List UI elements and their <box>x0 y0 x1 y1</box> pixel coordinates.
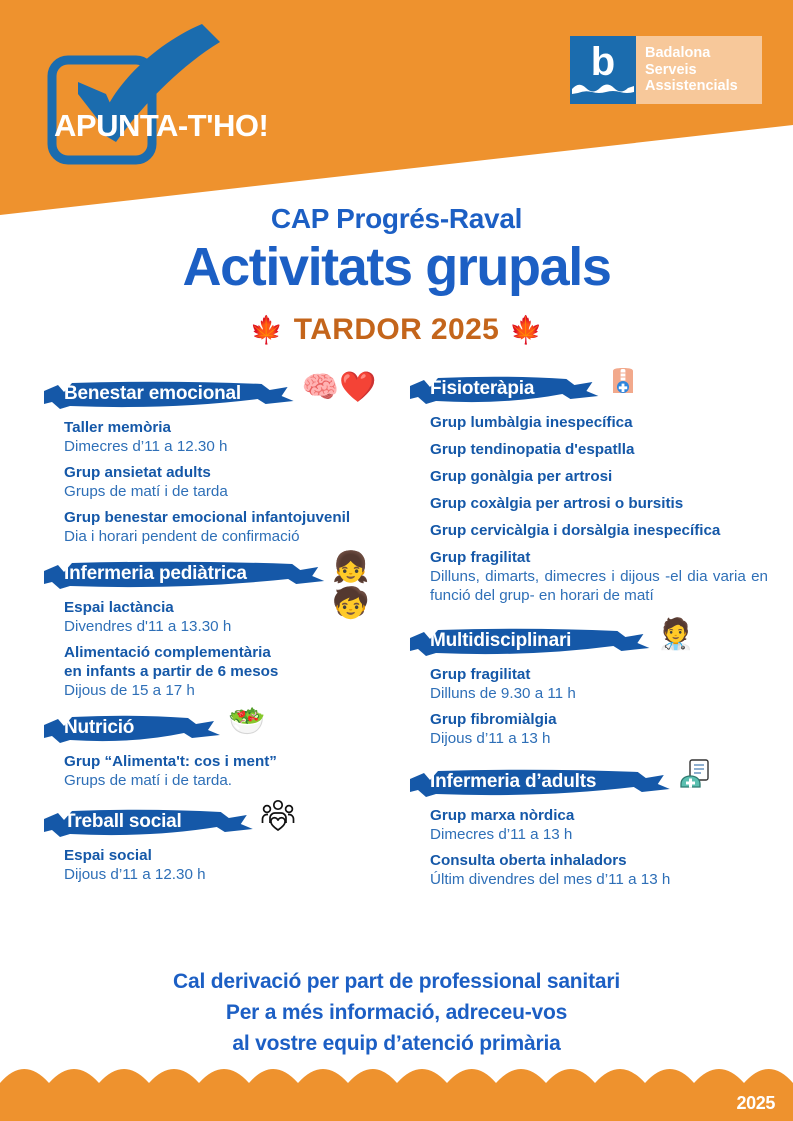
season-label: TARDOR 2025 <box>294 313 500 347</box>
section-title: Infermeria pediàtrica <box>64 563 247 585</box>
bsa-mark-icon: b <box>570 36 636 104</box>
activity-schedule: Grups de matí i de tarda <box>64 482 392 501</box>
activity-schedule: Grups de matí i de tarda. <box>64 771 392 790</box>
poster: APUNTA-T'HO! b Badalona Serveis Assisten… <box>0 0 793 1121</box>
left-column: Benestar emocional🧠❤️Taller memòriaDimec… <box>42 380 392 902</box>
children-icon: 👧🧒 <box>332 550 392 622</box>
activity-item: Grup fragilitatDilluns de 9.30 a 11 h <box>430 665 768 703</box>
section-header: Nutrició🥗 <box>42 714 392 744</box>
maple-leaf-icon-right: 🍁 <box>509 317 543 344</box>
section-header: Infermeria pediàtrica👧🧒 <box>42 560 392 590</box>
activity-name: Grup lumbàlgia inespecífica <box>430 413 768 432</box>
activity-name: Grup coxàlgia per artrosi o bursitis <box>430 494 768 513</box>
wave-icon <box>572 80 634 96</box>
activity-schedule: Últim divendres del mes d’11 a 13 h <box>430 870 768 889</box>
section-title: Infermeria d’adults <box>430 771 596 793</box>
activity-name: Grup marxa nòrdica <box>430 806 768 825</box>
spine-back-icon <box>606 365 640 408</box>
section-title: Benestar emocional <box>64 383 241 405</box>
section-title: Nutrició <box>64 717 134 739</box>
footer-year: 2025 <box>737 1093 775 1114</box>
campaign-label: APUNTA-T'HO! <box>54 108 268 144</box>
section-title: Treball social <box>64 811 182 833</box>
section-body: Grup lumbàlgia inespecíficaGrup tendinop… <box>408 413 768 605</box>
section-header: Benestar emocional🧠❤️ <box>42 380 392 410</box>
bottom-wave-decoration <box>0 1061 793 1121</box>
footer-line-2: Per a més informació, adreceu-vos <box>0 997 793 1028</box>
salad-icon: 🥗 <box>228 704 265 740</box>
medical-team-icon: 🧑‍⚕️ <box>657 617 694 653</box>
footer-line-1: Cal derivació per part de professional s… <box>0 966 793 997</box>
activity-item: Grup fragilitatDilluns, dimarts, dimecre… <box>430 548 768 605</box>
activity-schedule: Dimecres d’11 a 12.30 h <box>64 437 392 456</box>
checkbox-check-icon <box>44 22 294 172</box>
activity-name: Grup ansietat adults <box>64 463 392 482</box>
activity-name: Grup tendinopatia d'espatlla <box>430 440 768 459</box>
activity-schedule: Dimecres d’11 a 13 h <box>430 825 768 844</box>
activity-name: Grup fibromiàlgia <box>430 710 768 729</box>
maple-leaf-icon-left: 🍁 <box>250 317 284 344</box>
activity-item: Espai socialDijous d’11 a 12.30 h <box>64 846 392 884</box>
nurse-clipboard-icon <box>678 758 712 792</box>
activity-item: Grup marxa nòrdicaDimecres d’11 a 13 h <box>430 806 768 844</box>
page-title: Activitats grupals <box>0 237 793 297</box>
activity-schedule: Dijous d’11 a 12.30 h <box>64 865 392 884</box>
footer-message: Cal derivació per part de professional s… <box>0 966 793 1059</box>
activity-name: Grup “Alimenta't: cos i ment” <box>64 752 392 771</box>
section-body: Grup “Alimenta't: cos i ment”Grups de ma… <box>42 752 392 790</box>
bsa-letter: b <box>570 42 636 82</box>
campaign-logo <box>44 22 294 167</box>
footer-line-3: al vostre equip d’atenció primària <box>0 1028 793 1059</box>
nurse-clipboard-icon <box>678 758 712 801</box>
activity-schedule: Dijous de 15 a 17 h <box>64 681 392 700</box>
activity-item: Grup “Alimenta't: cos i ment”Grups de ma… <box>64 752 392 790</box>
activity-name: Espai social <box>64 846 392 865</box>
bsa-line-1: Badalona <box>645 45 762 62</box>
people-heart-icon <box>261 798 295 841</box>
season-title: 🍁 TARDOR 2025 🍁 <box>0 313 793 347</box>
brain-icon: 🧠❤️ <box>302 370 377 406</box>
activity-item: Taller memòriaDimecres d’11 a 12.30 h <box>64 418 392 456</box>
activity-name: Grup cervicàlgia i dorsàlgia inespecífic… <box>430 521 768 540</box>
center-name: CAP Progrés-Raval <box>0 203 793 235</box>
section-header: Treball social <box>42 808 392 838</box>
section-header: Multidisciplinari🧑‍⚕️ <box>408 627 768 657</box>
activity-name: Taller memòria <box>64 418 392 437</box>
activity-schedule: Dilluns, dimarts, dimecres i dijous -el … <box>430 567 768 605</box>
activity-section-1: Benestar emocional🧠❤️Taller memòriaDimec… <box>42 380 392 546</box>
bsa-wordmark: Badalona Serveis Assistencials <box>636 36 762 104</box>
bsa-line-2: Serveis <box>645 62 762 79</box>
organization-logo: b Badalona Serveis Assistencials <box>570 36 762 104</box>
activity-item: Grup benestar emocional infantojuvenilDi… <box>64 508 392 546</box>
activity-name: Grup gonàlgia per artrosi <box>430 467 768 486</box>
section-header: Infermeria d’adults <box>408 768 768 798</box>
people-heart-icon <box>261 798 295 832</box>
section-title: Multidisciplinari <box>430 630 571 652</box>
activity-schedule: Dijous d’11 a 13 h <box>430 729 768 748</box>
activity-item: Grup ansietat adultsGrups de matí i de t… <box>64 463 392 501</box>
section-header: Fisioteràpia <box>408 375 768 405</box>
activity-name: Grup fragilitat <box>430 665 768 684</box>
activity-name: Grup benestar emocional infantojuvenil <box>64 508 392 527</box>
activity-section-r1: FisioteràpiaGrup lumbàlgia inespecíficaG… <box>408 375 768 605</box>
right-column: FisioteràpiaGrup lumbàlgia inespecíficaG… <box>408 375 768 909</box>
bsa-line-3: Assistencials <box>645 78 762 95</box>
section-body: Grup fragilitatDilluns de 9.30 a 11 hGru… <box>408 665 768 748</box>
activity-item: Grup fibromiàlgiaDijous d’11 a 13 h <box>430 710 768 748</box>
activity-section-2: Infermeria pediàtrica👧🧒Espai lactànciaDi… <box>42 560 392 700</box>
spine-back-icon <box>606 365 640 399</box>
activity-name: Consulta oberta inhaladors <box>430 851 768 870</box>
activity-section-3: Nutrició🥗Grup “Alimenta't: cos i ment”Gr… <box>42 714 392 790</box>
activity-name: Alimentació complementàriaen infants a p… <box>64 643 392 681</box>
section-title: Fisioteràpia <box>430 378 534 400</box>
activity-schedule: Dilluns de 9.30 a 11 h <box>430 684 768 703</box>
activity-section-r3: Infermeria d’adultsGrup marxa nòrdicaDim… <box>408 768 768 889</box>
activity-section-4: Treball socialEspai socialDijous d’11 a … <box>42 808 392 884</box>
section-body: Espai socialDijous d’11 a 12.30 h <box>42 846 392 884</box>
section-body: Taller memòriaDimecres d’11 a 12.30 hGru… <box>42 418 392 546</box>
section-body: Grup marxa nòrdicaDimecres d’11 a 13 hCo… <box>408 806 768 889</box>
activity-item: Consulta oberta inhaladorsÚltim divendre… <box>430 851 768 889</box>
activity-name: Grup fragilitat <box>430 548 768 567</box>
activity-section-r2: Multidisciplinari🧑‍⚕️Grup fragilitatDill… <box>408 627 768 748</box>
activity-schedule: Dia i horari pendent de confirmació <box>64 527 392 546</box>
activity-item: Alimentació complementàriaen infants a p… <box>64 643 392 700</box>
